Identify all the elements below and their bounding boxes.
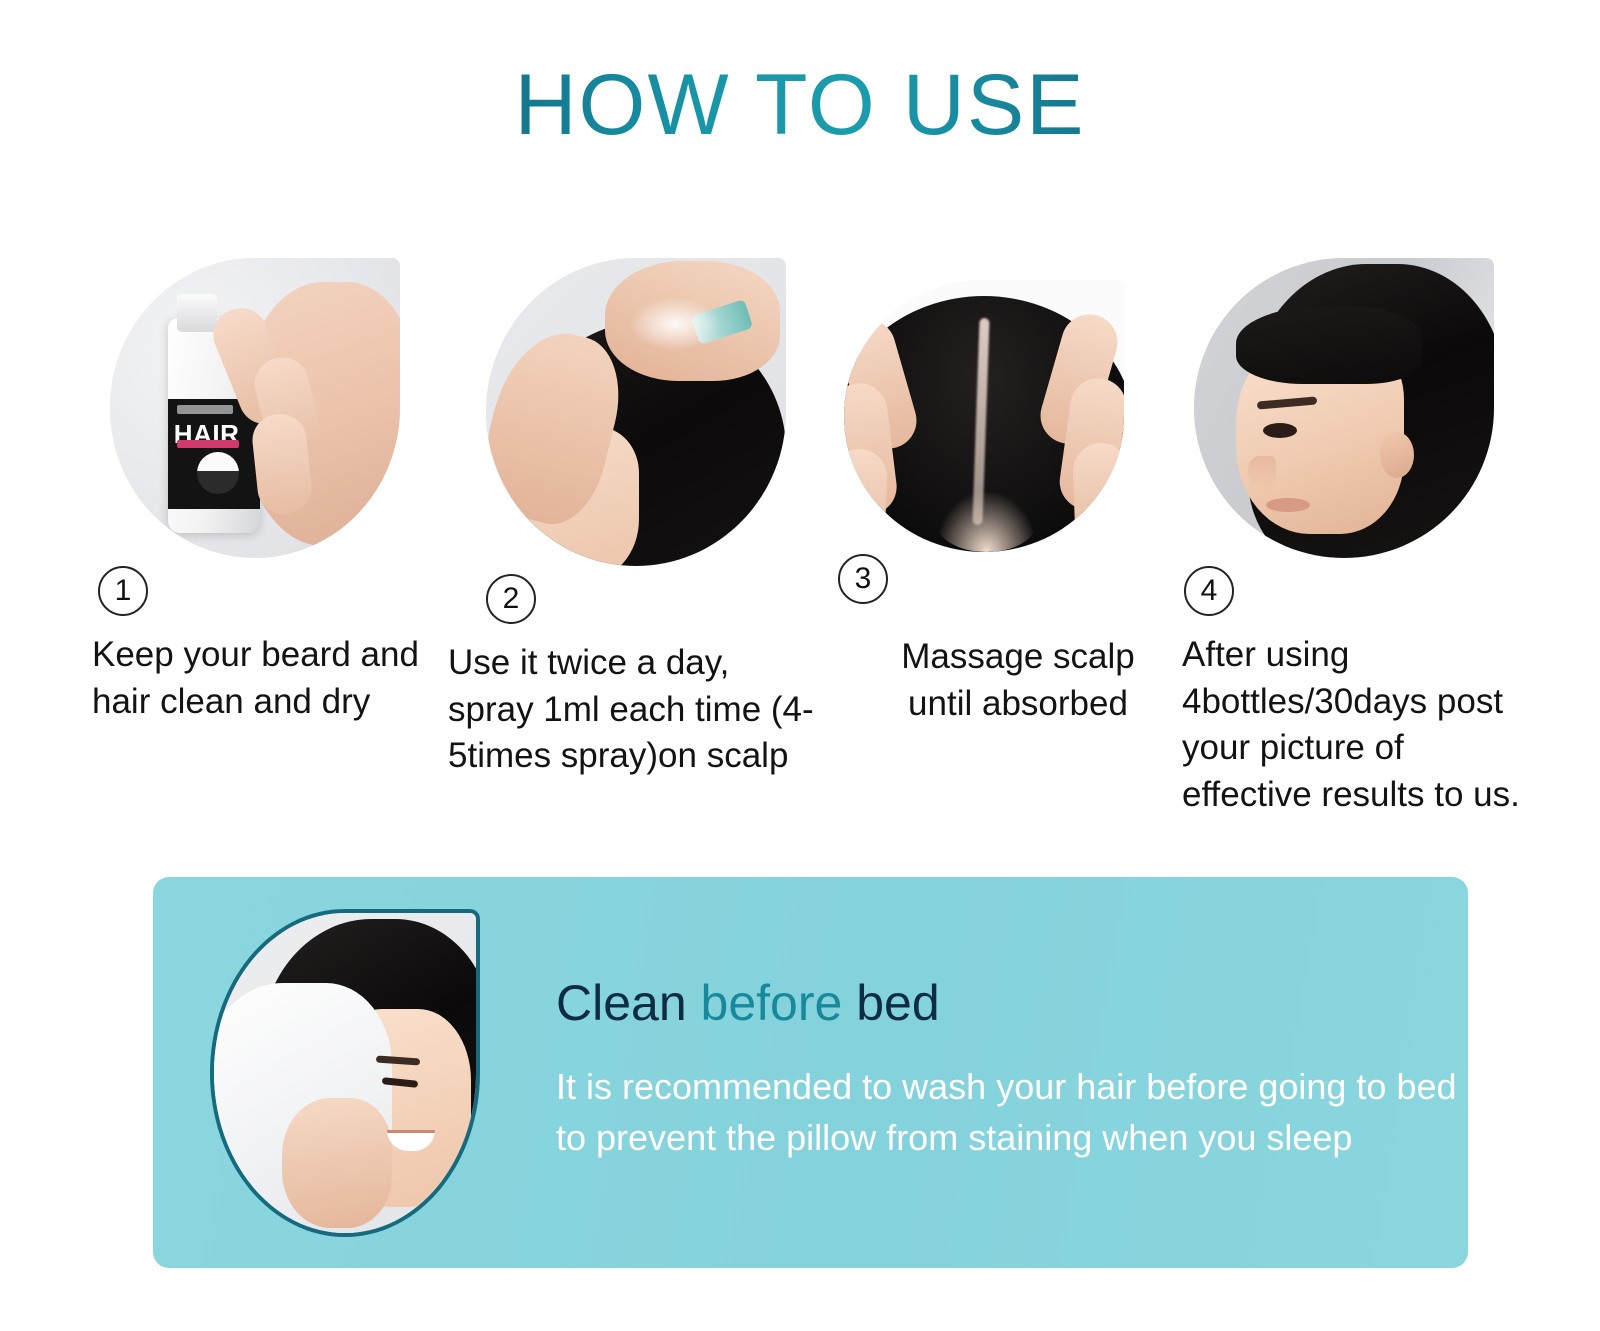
banner-body-text: It is recommended to wash your hair befo… xyxy=(556,1061,1468,1163)
hand-holding-spray-bottle-illustration: HAIR xyxy=(110,258,400,558)
step-caption-4: After using 4bottles/30days post your pi… xyxy=(1182,632,1526,818)
bottle-label-brand xyxy=(177,405,233,414)
scalp-shape xyxy=(936,492,1037,552)
steps-row: HAIR 1 Keep your beard and hair clean an… xyxy=(0,258,1600,818)
step-caption-2: Use it twice a day, spray 1ml each time … xyxy=(448,640,816,780)
banner-heading: Clean before bed xyxy=(556,976,1468,1031)
woman-drying-hair-with-towel-illustration xyxy=(214,913,476,1233)
step-item-3: 3 Massage scalp until absorbed xyxy=(828,258,1168,727)
woman-spraying-scalp-illustration xyxy=(486,258,786,566)
step-number-badge-3: 3 xyxy=(838,554,888,604)
bottle-label-subtitle xyxy=(177,440,239,448)
banner-heading-accent: before xyxy=(701,975,843,1031)
step-number-3: 3 xyxy=(855,562,872,596)
finger-shape xyxy=(844,448,888,552)
step-number-4: 4 xyxy=(1201,574,1218,608)
step-item-1: HAIR 1 Keep your beard and hair clean an… xyxy=(88,258,428,725)
step-photo-3 xyxy=(844,280,1124,552)
step-item-2: 2 Use it twice a day, spray 1ml each tim… xyxy=(436,258,816,780)
step-number-2: 2 xyxy=(503,582,520,616)
step-item-4: 4 After using 4bottles/30days post your … xyxy=(1176,258,1526,818)
hand-shape xyxy=(282,1098,392,1228)
step-number-badge-2: 2 xyxy=(486,574,536,624)
page-title: HOW TO USE xyxy=(0,0,1600,148)
step-number-badge-4: 4 xyxy=(1184,566,1234,616)
step-photo-2 xyxy=(486,258,786,566)
spray-mist-shape xyxy=(630,298,720,350)
woman-profile-illustration xyxy=(1194,258,1494,558)
step-photo-1: HAIR xyxy=(110,258,400,558)
step-caption-3: Massage scalp until absorbed xyxy=(868,634,1168,727)
step-photo-4 xyxy=(1194,258,1494,558)
lips-shape xyxy=(1266,498,1310,512)
bottle-label-circle-graphic xyxy=(197,452,239,494)
bottle-nozzle-icon xyxy=(177,294,217,332)
step-caption-1: Keep your beard and hair clean and dry xyxy=(92,632,428,725)
nose-shape xyxy=(1248,456,1276,490)
eye-shape xyxy=(1263,423,1297,438)
hands-massaging-scalp-illustration xyxy=(844,280,1124,552)
banner-heading-part1: Clean xyxy=(556,975,701,1031)
clean-before-bed-banner: Clean before bed It is recommended to wa… xyxy=(153,877,1468,1268)
banner-heading-part2: bed xyxy=(842,975,939,1031)
fringe-shape xyxy=(1236,306,1422,384)
ear-shape xyxy=(1380,432,1414,478)
banner-text-block: Clean before bed It is recommended to wa… xyxy=(556,976,1468,1169)
step-number-1: 1 xyxy=(115,574,132,608)
step-number-badge-1: 1 xyxy=(98,566,148,616)
finger-shape xyxy=(1072,442,1124,552)
banner-photo xyxy=(210,909,480,1237)
